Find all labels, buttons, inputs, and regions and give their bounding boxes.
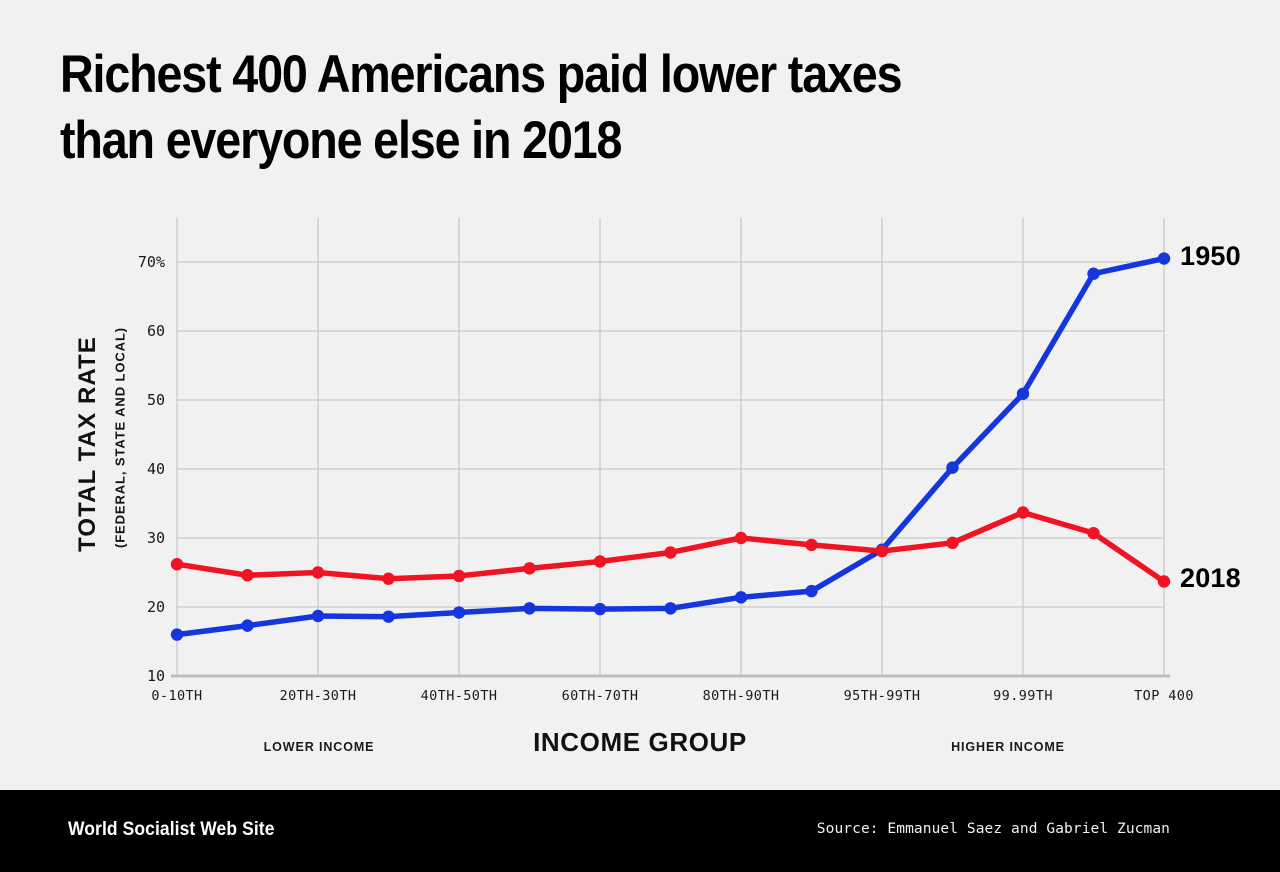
- y-tick-label: 20: [105, 598, 165, 616]
- x-tick-label: 0-10TH: [151, 688, 202, 704]
- x-tick-label: 60TH-70TH: [562, 688, 639, 704]
- x-tick-label: 95TH-99TH: [844, 688, 921, 704]
- footer-source: Source: Emmanuel Saez and Gabriel Zucman: [817, 821, 1170, 837]
- y-tick-label: 30: [105, 529, 165, 547]
- series-label-2018: 2018: [1180, 563, 1241, 594]
- footer-brand: World Socialist Web Site: [68, 819, 275, 841]
- line-chart-plot: [0, 0, 1280, 790]
- infographic-page: Richest 400 Americans paid lower taxes t…: [0, 0, 1280, 872]
- x-tick-label: 80TH-90TH: [703, 688, 780, 704]
- footer-bar: World Socialist Web Site Source: Emmanue…: [0, 790, 1280, 872]
- y-tick-label: 40: [105, 460, 165, 478]
- y-tick-label: 50: [105, 391, 165, 409]
- y-tick-label: 70%: [105, 253, 165, 271]
- x-tick-label: 99.99TH: [993, 688, 1053, 704]
- y-tick-label: 10: [105, 667, 165, 685]
- y-tick-label: 60: [105, 322, 165, 340]
- x-tick-label: TOP 400: [1134, 688, 1194, 704]
- x-tick-label: 40TH-50TH: [421, 688, 498, 704]
- lower-income-note: LOWER INCOME: [264, 740, 375, 754]
- x-axis-title: INCOME GROUP: [0, 727, 1280, 758]
- higher-income-note: HIGHER INCOME: [951, 740, 1065, 754]
- chart-container: TOTAL TAX RATE (FEDERAL, STATE AND LOCAL…: [0, 0, 1280, 790]
- x-tick-label: 20TH-30TH: [280, 688, 357, 704]
- series-label-1950: 1950: [1180, 241, 1241, 272]
